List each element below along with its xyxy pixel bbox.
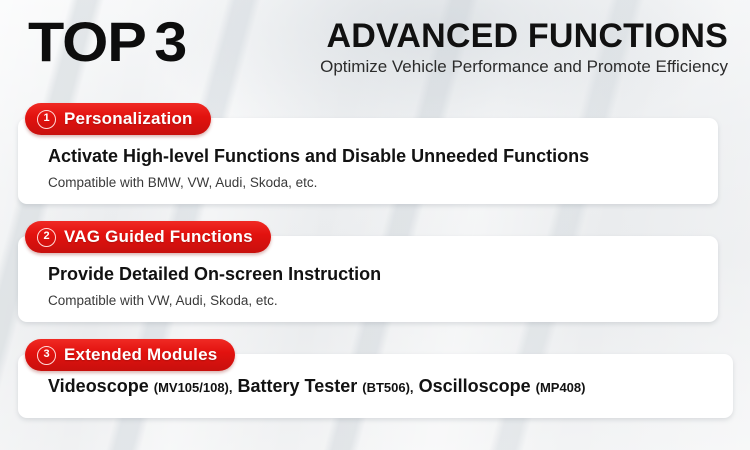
top-label: TOP <box>28 10 146 73</box>
module-model: (BT506), <box>362 380 413 395</box>
promo-banner: TOP3 ADVANCED FUNCTIONS Optimize Vehicle… <box>0 0 750 450</box>
feature-card-body: Videoscope (MV105/108), Battery Tester (… <box>48 374 585 400</box>
badge-number-icon: 2 <box>37 228 56 247</box>
module-item: Oscilloscope (MP408) <box>419 376 586 396</box>
feature-card-body: Activate High-level Functions and Disabl… <box>48 144 589 193</box>
module-model: (MV105/108), <box>154 380 233 395</box>
badge-label: VAG Guided Functions <box>64 227 253 247</box>
top3-logo: TOP3 <box>28 14 186 70</box>
feature-headline: Activate High-level Functions and Disabl… <box>48 144 589 168</box>
feature-card-body: Provide Detailed On-screen Instruction C… <box>48 262 381 311</box>
badge-number-icon: 1 <box>37 110 56 129</box>
module-item: Videoscope (MV105/108), <box>48 376 233 396</box>
title-block: ADVANCED FUNCTIONS Optimize Vehicle Perf… <box>320 18 728 78</box>
module-name: Oscilloscope <box>419 376 531 396</box>
module-list: Videoscope (MV105/108), Battery Tester (… <box>48 374 585 400</box>
feature-badge: 1 Personalization <box>25 103 211 135</box>
badge-label: Personalization <box>64 109 193 129</box>
badge-label: Extended Modules <box>64 345 217 365</box>
main-title: ADVANCED FUNCTIONS <box>320 18 728 54</box>
feature-badge: 3 Extended Modules <box>25 339 235 371</box>
module-name: Battery Tester <box>238 376 358 396</box>
top-number: 3 <box>154 10 186 73</box>
module-model: (MP408) <box>536 380 586 395</box>
feature-badge: 2 VAG Guided Functions <box>25 221 271 253</box>
feature-subline: Compatible with BMW, VW, Audi, Skoda, et… <box>48 173 589 193</box>
feature-subline: Compatible with VW, Audi, Skoda, etc. <box>48 291 381 311</box>
header: TOP3 ADVANCED FUNCTIONS Optimize Vehicle… <box>0 0 750 92</box>
module-item: Battery Tester (BT506), <box>238 376 414 396</box>
badge-number-icon: 3 <box>37 346 56 365</box>
sub-title: Optimize Vehicle Performance and Promote… <box>320 56 728 78</box>
feature-headline: Provide Detailed On-screen Instruction <box>48 262 381 286</box>
module-name: Videoscope <box>48 376 149 396</box>
